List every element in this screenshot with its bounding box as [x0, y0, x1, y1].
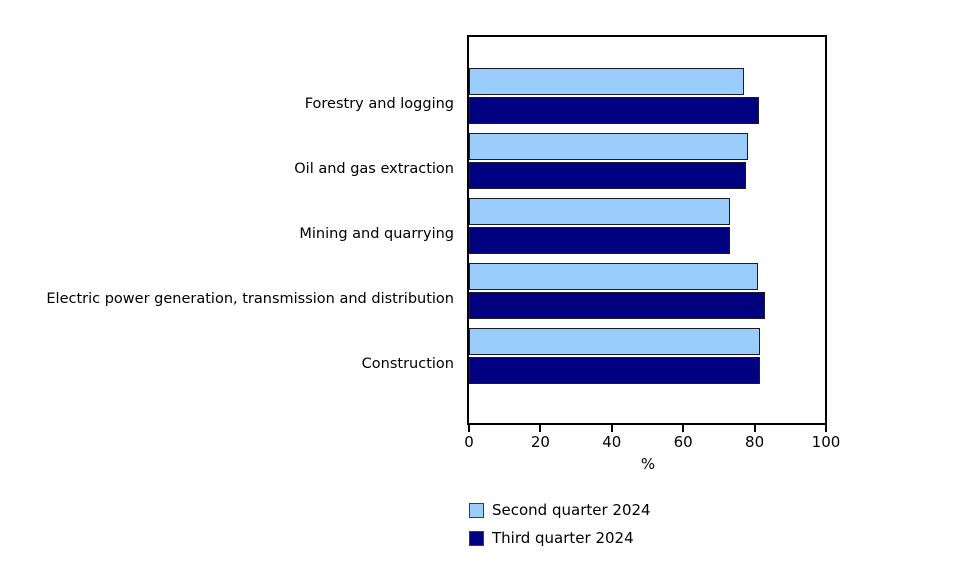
bar-q3-electric-power-generation	[469, 292, 765, 319]
legend-item-third-quarter-2024: Third quarter 2024	[469, 524, 829, 552]
chart-page: Forestry and logging Oil and gas extract…	[0, 0, 974, 563]
plot-area	[469, 37, 826, 424]
x-tick-label-100: 100	[801, 433, 851, 451]
x-tick-mark	[468, 425, 470, 432]
bar-q2-forestry-and-logging	[469, 68, 744, 95]
x-tick-mark	[754, 425, 756, 432]
bar-q3-oil-and-gas-extraction	[469, 162, 746, 189]
x-axis-title: %	[469, 455, 827, 473]
legend-swatch-third-quarter-2024	[469, 531, 484, 546]
category-label-electric-power-generation: Electric power generation, transmission …	[0, 291, 454, 307]
x-tick-label-20: 20	[515, 433, 565, 451]
bar-q2-construction	[469, 328, 760, 355]
x-tick-label-80: 80	[730, 433, 780, 451]
x-tick-label-0: 0	[444, 433, 494, 451]
category-label-construction: Construction	[0, 356, 454, 372]
bar-q2-oil-and-gas-extraction	[469, 133, 748, 160]
category-label-mining-and-quarrying: Mining and quarrying	[0, 226, 454, 242]
chart-legend: Second quarter 2024 Third quarter 2024	[469, 496, 829, 552]
x-axis: 0 20 40 60 80 100	[469, 425, 827, 447]
bar-q3-construction	[469, 357, 760, 384]
bar-q2-electric-power-generation	[469, 263, 758, 290]
x-tick-label-60: 60	[658, 433, 708, 451]
bar-q3-forestry-and-logging	[469, 97, 759, 124]
bar-q3-mining-and-quarrying	[469, 227, 730, 254]
legend-item-second-quarter-2024: Second quarter 2024	[469, 496, 829, 524]
category-axis: Forestry and logging Oil and gas extract…	[0, 36, 462, 425]
x-tick-mark	[611, 425, 613, 432]
x-tick-mark	[825, 425, 827, 432]
category-label-oil-and-gas-extraction: Oil and gas extraction	[0, 161, 454, 177]
x-tick-mark	[539, 425, 541, 432]
x-tick-label-40: 40	[587, 433, 637, 451]
legend-label-third-quarter-2024: Third quarter 2024	[492, 529, 634, 547]
bar-q2-mining-and-quarrying	[469, 198, 730, 225]
category-label-forestry-and-logging: Forestry and logging	[0, 96, 454, 112]
legend-label-second-quarter-2024: Second quarter 2024	[492, 501, 651, 519]
x-tick-mark	[682, 425, 684, 432]
legend-swatch-second-quarter-2024	[469, 503, 484, 518]
